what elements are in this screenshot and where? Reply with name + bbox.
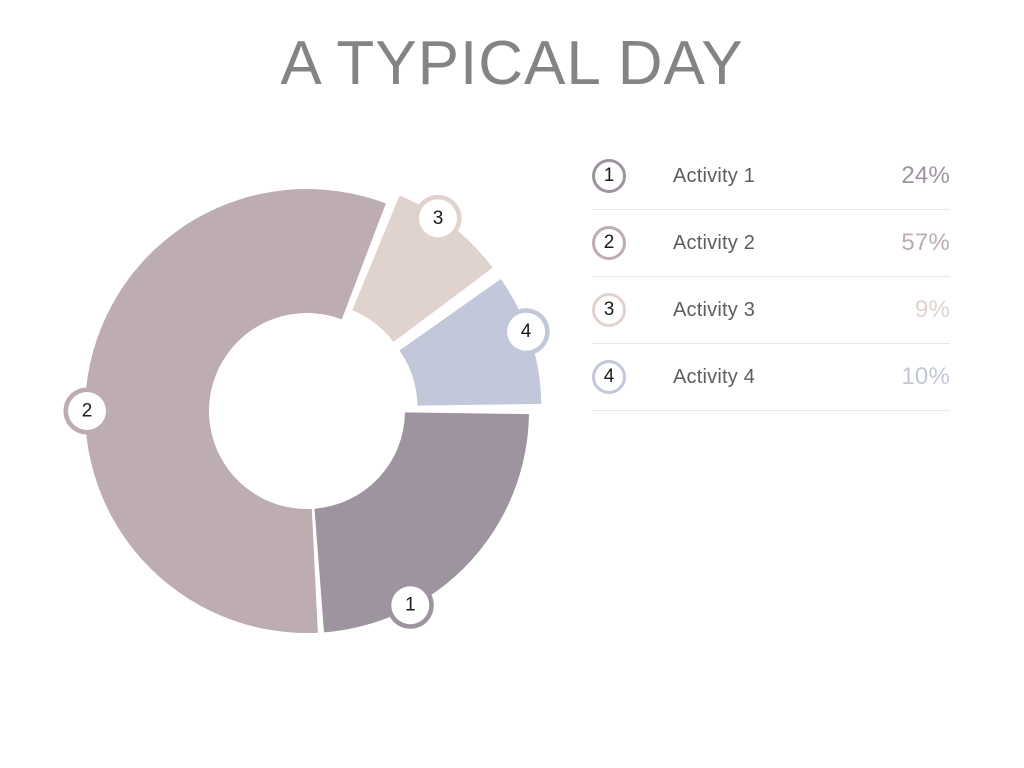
legend-value-4: 10% (901, 363, 950, 391)
legend-row-3[interactable]: 3Activity 39% (592, 277, 950, 344)
donut-chart: 1234 (50, 155, 570, 675)
slice-badge-label-2: 2 (82, 401, 93, 422)
legend-label-1: Activity 1 (673, 165, 901, 188)
donut-chart-svg: 1234 (50, 155, 570, 675)
donut-slices (85, 189, 541, 633)
legend: 1Activity 124%2Activity 257%3Activity 39… (592, 143, 950, 411)
legend-row-1[interactable]: 1Activity 124% (592, 143, 950, 210)
slide-canvas: A TYPICAL DAY 1234 1Activity 124%2Activi… (0, 0, 1024, 768)
legend-row-2[interactable]: 2Activity 257% (592, 210, 950, 277)
slice-badge-label-3: 3 (433, 208, 444, 229)
legend-badge-2: 2 (592, 226, 626, 260)
legend-value-1: 24% (901, 162, 950, 190)
legend-badge-1: 1 (592, 159, 626, 193)
legend-label-2: Activity 2 (673, 232, 901, 255)
slice-badge-label-4: 4 (521, 321, 532, 342)
slice-badge-label-1: 1 (405, 595, 416, 616)
legend-badge-4: 4 (592, 360, 626, 394)
legend-badge-3: 3 (592, 293, 626, 327)
legend-row-4[interactable]: 4Activity 410% (592, 344, 950, 411)
legend-label-3: Activity 3 (673, 299, 915, 322)
legend-value-2: 57% (901, 229, 950, 257)
legend-value-3: 9% (915, 296, 950, 324)
legend-label-4: Activity 4 (673, 366, 901, 389)
page-title: A TYPICAL DAY (0, 28, 1024, 100)
